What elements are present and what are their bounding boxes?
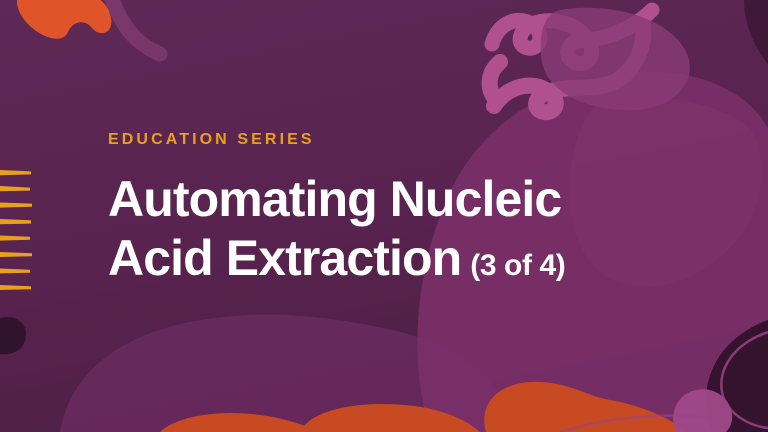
gold-rule-lines-icon — [0, 170, 40, 294]
part-counter-label: (3 of 4) — [470, 249, 565, 282]
page-title: Automating Nucleic Acid Extraction(3 of … — [108, 170, 688, 295]
slide-content: EDUCATION SERIES Automating Nucleic Acid… — [108, 132, 688, 295]
presentation-slide: EDUCATION SERIES Automating Nucleic Acid… — [0, 0, 768, 432]
title-line-2: Acid Extraction — [108, 230, 461, 286]
eyebrow-label: EDUCATION SERIES — [108, 132, 688, 148]
title-line-1: Automating Nucleic — [108, 170, 688, 229]
title-line-2-wrap: Acid Extraction(3 of 4) — [108, 229, 688, 295]
decorative-rule-stack — [0, 170, 40, 299]
